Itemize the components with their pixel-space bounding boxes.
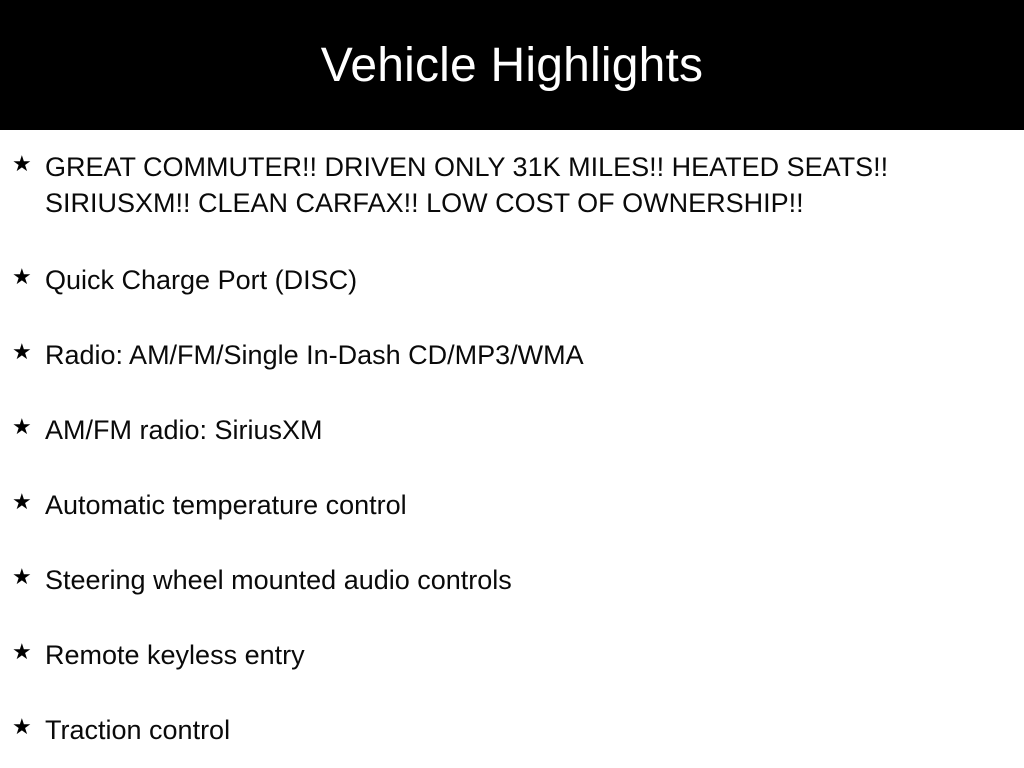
- star-icon: ★: [12, 342, 32, 366]
- list-item-label: Remote keyless entry: [45, 618, 1010, 673]
- list-item-label: Steering wheel mounted audio controls: [45, 543, 1010, 598]
- header-banner: Vehicle Highlights: [0, 0, 1024, 130]
- list-item: ★ GREAT COMMUTER!! DRIVEN ONLY 31K MILES…: [0, 130, 1024, 243]
- star-icon: ★: [12, 267, 32, 291]
- star-icon: ★: [12, 717, 32, 741]
- vehicle-highlights-page: Vehicle Highlights ★ GREAT COMMUTER!! DR…: [0, 0, 1024, 768]
- list-item: ★ Remote keyless entry: [0, 618, 1024, 693]
- list-item: ★ Radio: AM/FM/Single In-Dash CD/MP3/WMA: [0, 318, 1024, 393]
- page-title: Vehicle Highlights: [321, 42, 704, 90]
- list-item-label: Traction control: [45, 693, 1010, 748]
- list-item: ★ Automatic temperature control: [0, 468, 1024, 543]
- list-item-label: GREAT COMMUTER!! DRIVEN ONLY 31K MILES!!…: [45, 130, 1010, 221]
- highlights-list: ★ GREAT COMMUTER!! DRIVEN ONLY 31K MILES…: [0, 130, 1024, 768]
- star-icon: ★: [12, 154, 32, 178]
- list-item: ★ Traction control: [0, 693, 1024, 768]
- list-item: ★ Steering wheel mounted audio controls: [0, 543, 1024, 618]
- list-item: ★ AM/FM radio: SiriusXM: [0, 393, 1024, 468]
- star-icon: ★: [12, 492, 32, 516]
- star-icon: ★: [12, 567, 32, 591]
- star-icon: ★: [12, 642, 32, 666]
- list-item-label: AM/FM radio: SiriusXM: [45, 393, 1010, 448]
- list-item-label: Quick Charge Port (DISC): [45, 243, 1010, 298]
- list-item-label: Automatic temperature control: [45, 468, 1010, 523]
- list-item-label: Radio: AM/FM/Single In-Dash CD/MP3/WMA: [45, 318, 1010, 373]
- list-item: ★ Quick Charge Port (DISC): [0, 243, 1024, 318]
- star-icon: ★: [12, 417, 32, 441]
